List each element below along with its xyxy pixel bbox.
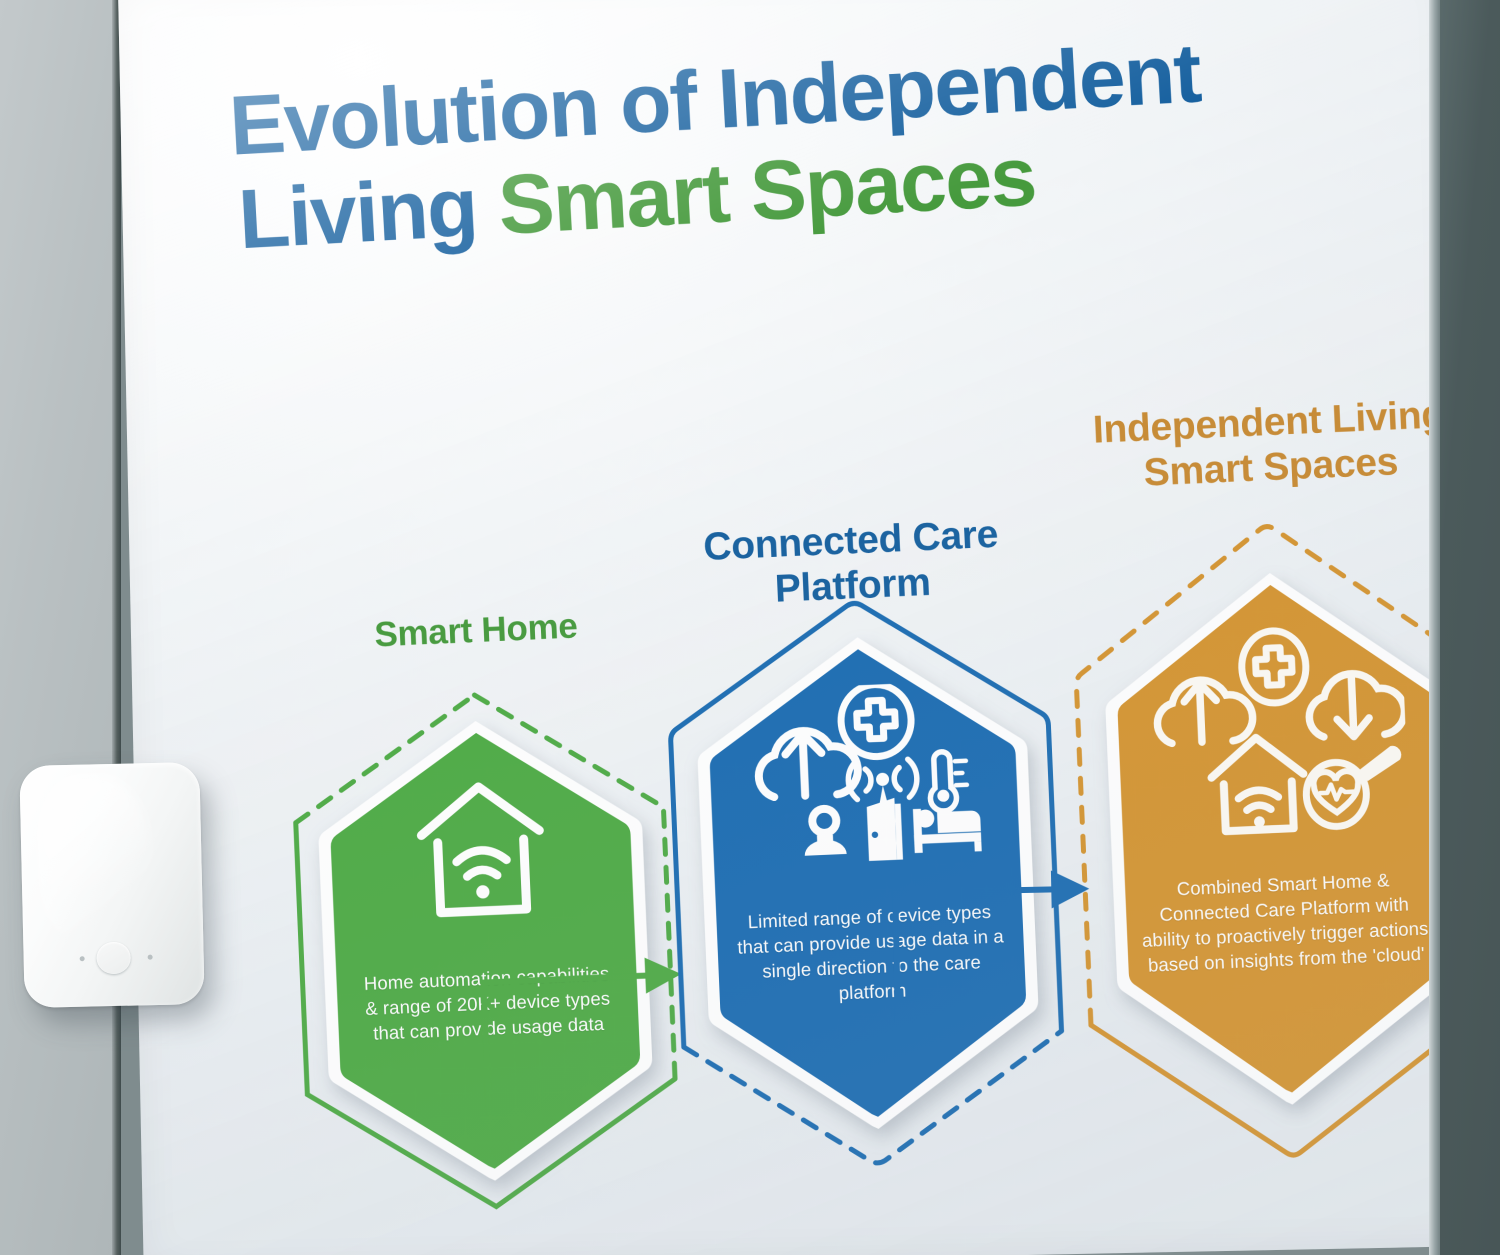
stage-heading-smart-home: Smart Home	[330, 605, 622, 658]
wall-corner-seam-left	[112, 0, 121, 1255]
hub-led-right	[148, 954, 153, 959]
smart-hub-device	[19, 762, 204, 1008]
stage-heading-independent-living-smart-spaces: Independent Living Smart Spaces	[1086, 392, 1455, 499]
page-title: Evolution of Independent Living Smart Sp…	[227, 13, 1436, 267]
screenshot-root: Evolution of Independent Living Smart Sp…	[0, 0, 1500, 1255]
title-line-2-blue: Living	[236, 158, 501, 266]
wall-panel-left	[0, 0, 121, 1255]
hexagon-fill-independent-living-smart-spaces	[1108, 574, 1454, 1103]
hub-button[interactable]	[96, 941, 131, 974]
poster-board: Evolution of Independent Living Smart Sp…	[118, 0, 1474, 1255]
hub-led-left	[79, 956, 84, 961]
wall-panel-right	[1440, 0, 1500, 1255]
hub-gloss-highlight	[38, 775, 154, 952]
